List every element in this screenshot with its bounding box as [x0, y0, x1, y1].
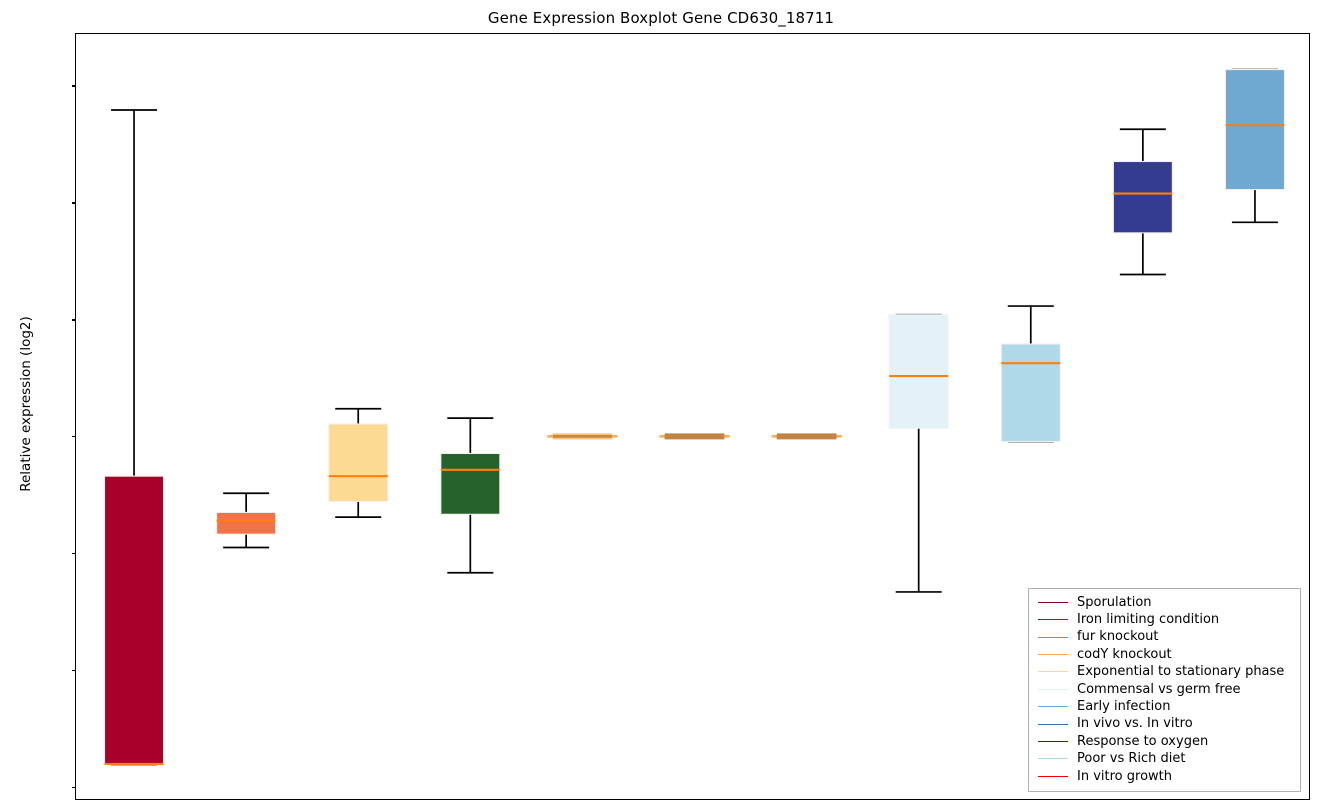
legend-item[interactable]: In vitro growth	[1038, 768, 1291, 785]
legend-item-label: Poor vs Rich diet	[1077, 750, 1185, 767]
legend-item-label: Early infection	[1077, 698, 1170, 715]
legend-item[interactable]: Exponential to stationary phase	[1038, 663, 1291, 680]
legend-color-swatch-icon	[1038, 758, 1068, 759]
legend-item-label: In vivo vs. In vitro	[1077, 715, 1193, 732]
legend-item-label: Iron limiting condition	[1077, 611, 1219, 628]
boxplot-box	[889, 315, 948, 592]
box-iqr	[889, 315, 948, 428]
legend-color-swatch-icon	[1038, 619, 1068, 620]
legend-item[interactable]: Iron limiting condition	[1038, 611, 1291, 628]
legend-color-swatch-icon	[1038, 637, 1068, 638]
legend-item-label: codY knockout	[1077, 646, 1172, 663]
legend-item-label: fur knockout	[1077, 628, 1159, 645]
box-iqr	[105, 476, 164, 765]
legend-color-swatch-icon	[1038, 724, 1068, 725]
boxplot-box	[329, 409, 388, 517]
legend-item[interactable]: Commensal vs germ free	[1038, 681, 1291, 698]
legend-item-label: Commensal vs germ free	[1077, 681, 1240, 698]
legend-color-swatch-icon	[1038, 776, 1068, 777]
box-iqr	[217, 512, 276, 534]
y-axis-label: Relative expression (log2)	[18, 274, 34, 534]
boxplot-box	[105, 110, 164, 765]
box-iqr	[1113, 162, 1172, 233]
legend-item[interactable]: In vivo vs. In vitro	[1038, 715, 1291, 732]
legend-item-label: Response to oxygen	[1077, 733, 1208, 750]
legend-item[interactable]: Early infection	[1038, 698, 1291, 715]
legend-color-swatch-icon	[1038, 689, 1068, 690]
legend-item-label: Sporulation	[1077, 594, 1152, 611]
boxplot-box	[1001, 306, 1060, 441]
legend-item-label: In vitro growth	[1077, 768, 1172, 785]
legend-item[interactable]: codY knockout	[1038, 646, 1291, 663]
legend-item[interactable]: Poor vs Rich diet	[1038, 750, 1291, 767]
boxplot-box	[772, 434, 842, 439]
legend-item-label: Exponential to stationary phase	[1077, 663, 1284, 680]
legend-item[interactable]: Response to oxygen	[1038, 733, 1291, 750]
boxplot-box	[441, 418, 500, 573]
boxplot-box	[660, 434, 730, 439]
boxplot-box	[1113, 129, 1172, 274]
box-iqr	[329, 424, 388, 501]
legend-item[interactable]: fur knockout	[1038, 628, 1291, 645]
boxplot-box	[1225, 70, 1284, 223]
boxplot-box	[217, 493, 276, 547]
legend: SporulationIron limiting conditionfur kn…	[1028, 588, 1301, 792]
box-iqr	[441, 453, 500, 514]
legend-color-swatch-icon	[1038, 706, 1068, 707]
legend-color-swatch-icon	[1038, 671, 1068, 672]
box-iqr	[1225, 70, 1284, 190]
legend-color-swatch-icon	[1038, 654, 1068, 655]
box-iqr	[1001, 344, 1060, 442]
boxplot-box	[547, 434, 617, 439]
legend-color-swatch-icon	[1038, 602, 1068, 603]
legend-item[interactable]: Sporulation	[1038, 594, 1291, 611]
chart-title: Gene Expression Boxplot Gene CD630_18711	[0, 9, 1322, 27]
figure-canvas: Gene Expression Boxplot Gene CD630_18711…	[0, 0, 1322, 812]
legend-color-swatch-icon	[1038, 741, 1068, 742]
